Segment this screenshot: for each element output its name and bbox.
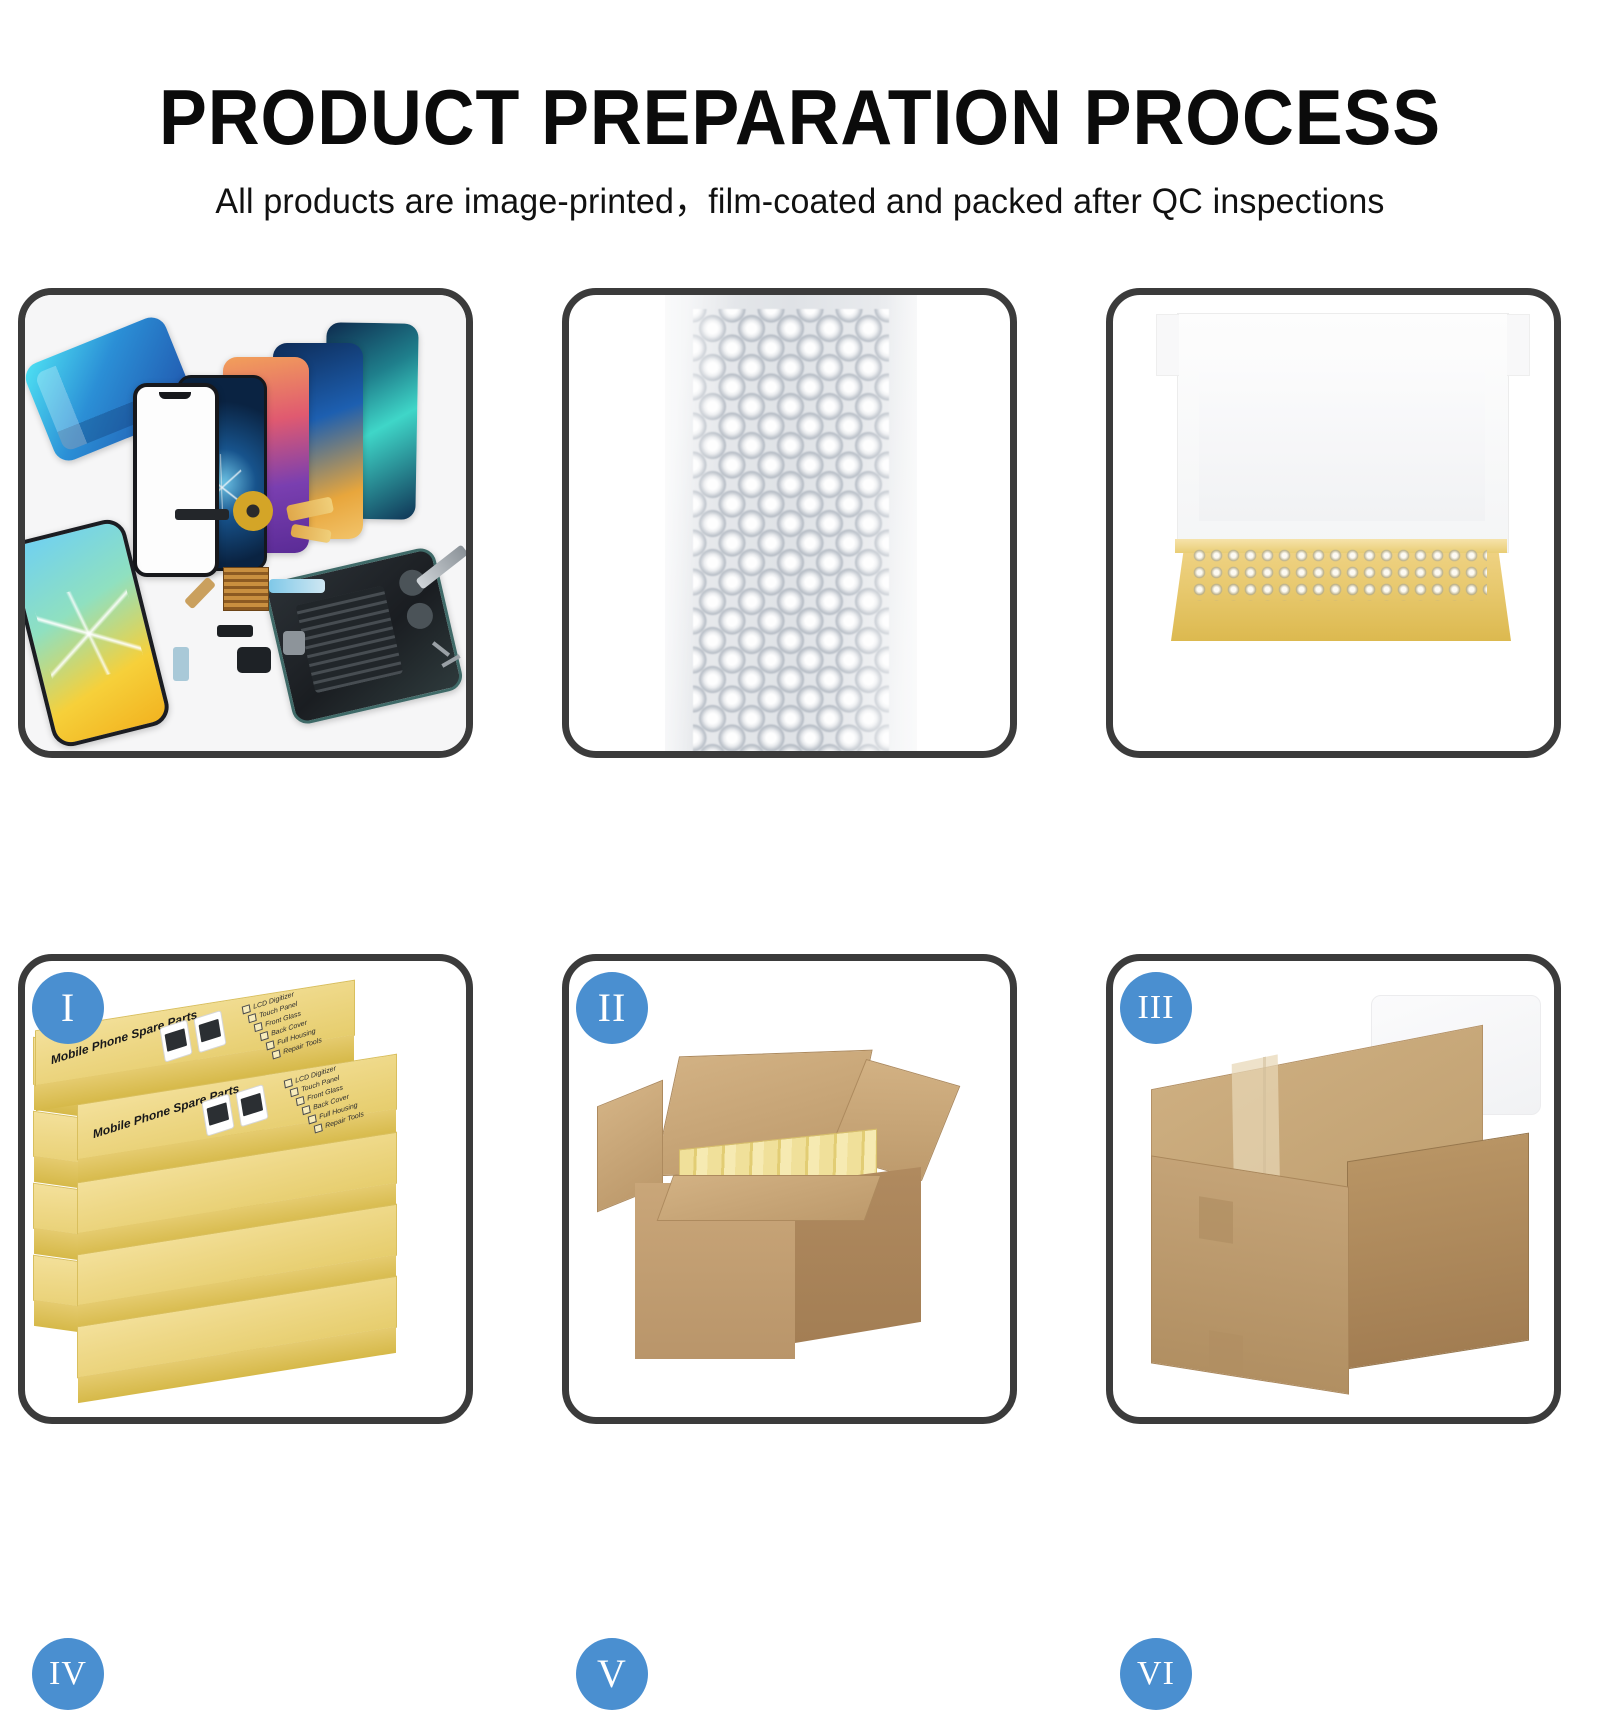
wireless-charging-coil-part: [233, 491, 273, 531]
earpiece-mesh-part: [175, 509, 229, 520]
sealed-carton-side: [1347, 1133, 1529, 1370]
page-header: PRODUCT PREPARATION PROCESS All products…: [0, 0, 1600, 219]
carton-flap-front: [657, 1175, 882, 1221]
sim-tray-part: [173, 647, 189, 681]
process-step-panel-3: [1106, 288, 1561, 758]
mailer-box-open-image: [1113, 295, 1554, 751]
bubble-wrap-image: [569, 295, 1010, 751]
page-title: PRODUCT PREPARATION PROCESS: [64, 0, 1536, 156]
process-step-panel-2: [562, 288, 1017, 758]
step-badge-2: II: [576, 972, 648, 1044]
phone-front-glass: [133, 383, 219, 577]
mailer-inner-wall: [1199, 367, 1485, 521]
sealed-carton-front: [1151, 1155, 1349, 1394]
flex-cable-part-c: [184, 577, 216, 610]
vibration-motor-part: [283, 631, 305, 655]
retail-box-thumb-a1: [159, 1019, 192, 1062]
bubble-wrap-sleeve: [665, 295, 917, 758]
tape-tab-lower: [1209, 1330, 1243, 1375]
step-badge-1: I: [32, 972, 104, 1044]
step-badge-6: VI: [1120, 1638, 1192, 1710]
retail-box-thumb-b1: [201, 1093, 234, 1136]
step-badge-4: IV: [32, 1638, 104, 1710]
step-badge-3: III: [1120, 972, 1192, 1044]
flex-cable-part-d: [269, 579, 325, 593]
speaker-module-part: [237, 647, 271, 673]
retail-box-thumb-b2: [235, 1084, 268, 1127]
wrap-sheen: [665, 295, 917, 758]
ic-chip-part: [223, 567, 269, 611]
process-step-grid: Mobile Phone Spare Parts LCD Digitizer T…: [0, 288, 1600, 1468]
process-step-panel-1: [18, 288, 473, 758]
tape-tab-upper: [1199, 1196, 1233, 1243]
bubble-wrapped-product: [1191, 547, 1487, 601]
page-subtitle: All products are image-printed，film-coat…: [24, 156, 1576, 219]
phone-parts-collage-image: [25, 295, 466, 751]
retail-box-thumb-a2: [193, 1010, 226, 1053]
step-badge-5: V: [576, 1638, 648, 1710]
microphone-part: [217, 625, 253, 637]
